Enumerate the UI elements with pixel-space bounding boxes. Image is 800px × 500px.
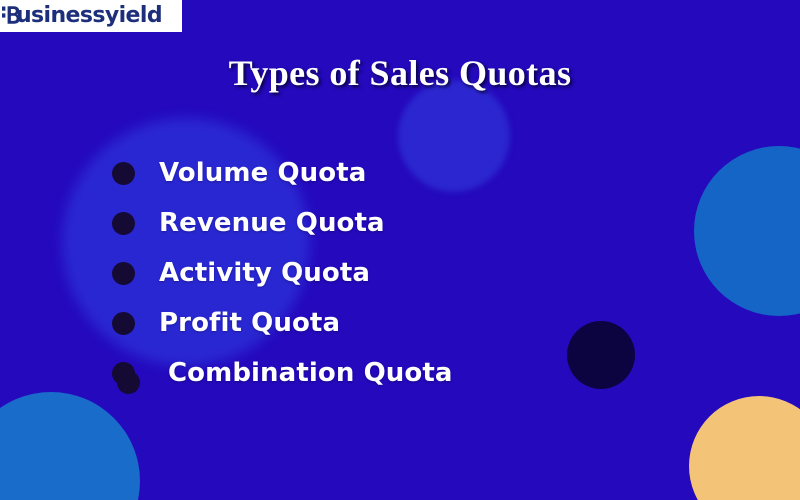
bullet-icon — [112, 212, 135, 235]
list-item: Profit Quota — [112, 298, 632, 348]
slide-canvas: usinessyield Types of Sales Quotas Volum… — [0, 0, 800, 500]
list-item-label: Profit Quota — [159, 308, 340, 338]
orange-circle-decoration — [689, 396, 800, 500]
list-item: Combination Quota — [112, 348, 632, 398]
list-item: Revenue Quota — [112, 198, 632, 248]
quota-types-list: Volume Quota Revenue Quota Activity Quot… — [112, 148, 632, 398]
teal-circle-decoration — [742, 462, 800, 500]
bullet-icon — [112, 162, 135, 185]
list-item-label: Revenue Quota — [159, 208, 385, 238]
list-item: Volume Quota — [112, 148, 632, 198]
logo-wordmark: usinessyield — [16, 5, 162, 27]
list-item-label: Combination Quota — [159, 358, 453, 388]
left-blue-circle-decoration — [0, 392, 140, 500]
right-blue-circle-decoration — [694, 146, 800, 316]
bullet-icon — [112, 262, 135, 285]
slide-title: Types of Sales Quotas — [0, 52, 800, 94]
list-item-label: Volume Quota — [159, 158, 366, 188]
bullet-icon — [112, 312, 135, 335]
brand-logo[interactable]: usinessyield — [0, 0, 182, 32]
bullet-icon — [112, 362, 135, 385]
list-item-label: Activity Quota — [159, 258, 370, 288]
list-item: Activity Quota — [112, 248, 632, 298]
